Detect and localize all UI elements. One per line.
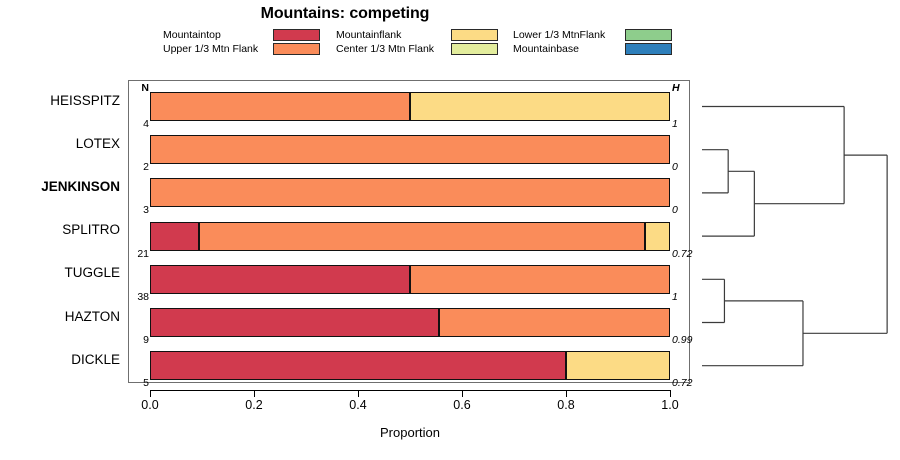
x-tick-0.2 [254, 390, 255, 397]
legend-column-2: Lower 1/3 MtnFlank Mountainbase [513, 28, 673, 58]
legend-item-upper-third-mtn-flank: Upper 1/3 Mtn Flank [163, 42, 325, 56]
n-value-hazton: 9 [143, 334, 149, 346]
bar-row-lotex [150, 135, 670, 164]
chart-title: Mountains: competing [0, 5, 690, 23]
legend-label-upper-third-mtn-flank: Upper 1/3 Mtn Flank [163, 42, 258, 56]
bar-segment-dickle-0 [150, 351, 566, 380]
category-label-lotex: LOTEX [76, 136, 120, 152]
bar-segment-heisspitz-0 [150, 92, 410, 121]
x-tick-label-1.0: 1.0 [650, 398, 690, 412]
bar-segment-heisspitz-1 [410, 92, 670, 121]
bar-segment-jenkinson-0 [150, 178, 670, 207]
bar-segment-splitro-0 [150, 222, 199, 251]
legend-swatch-upper-third-mtn-flank [273, 43, 320, 55]
category-label-heisspitz: HEISSPITZ [50, 93, 120, 109]
legend-item-mountainflank: Mountainflank [336, 28, 501, 42]
n-value-splitro: 21 [137, 248, 149, 260]
bar-segment-hazton-0 [150, 308, 439, 337]
bar-row-hazton [150, 308, 670, 337]
x-tick-1.0 [670, 390, 671, 397]
legend-item-mountaintop: Mountaintop [163, 28, 325, 42]
legend-label-mountaintop: Mountaintop [163, 28, 221, 42]
bar-segment-splitro-1 [199, 222, 645, 251]
category-label-splitro: SPLITRO [62, 222, 120, 238]
bar-segment-dickle-1 [566, 351, 670, 380]
n-value-tuggle: 38 [137, 291, 149, 303]
legend-item-center-third-mtn-flank: Center 1/3 Mtn Flank [336, 42, 501, 56]
legend-label-mountainflank: Mountainflank [336, 28, 401, 42]
legend-column-0: Mountaintop Upper 1/3 Mtn Flank [163, 28, 325, 58]
legend-label-center-third-mtn-flank: Center 1/3 Mtn Flank [336, 42, 434, 56]
bar-segment-tuggle-0 [150, 265, 410, 294]
x-tick-label-0.8: 0.8 [546, 398, 586, 412]
bar-row-jenkinson [150, 178, 670, 207]
h-value-tuggle: 1 [672, 291, 678, 303]
dendrogram [690, 80, 900, 383]
bar-row-splitro [150, 222, 670, 251]
category-label-jenkinson: JENKINSON [41, 179, 120, 195]
x-axis-line [150, 390, 670, 391]
stacked-bars [150, 80, 670, 383]
legend: Mountaintop Upper 1/3 Mtn Flank Mountain… [163, 28, 673, 58]
x-tick-0.6 [462, 390, 463, 397]
bar-row-dickle [150, 351, 670, 380]
legend-label-mountainbase: Mountainbase [513, 42, 579, 56]
n-column-header: N [141, 82, 149, 94]
x-tick-0.8 [566, 390, 567, 397]
legend-column-1: Mountainflank Center 1/3 Mtn Flank [336, 28, 501, 58]
n-value-lotex: 2 [143, 161, 149, 173]
legend-swatch-mountainbase [625, 43, 672, 55]
h-value-lotex: 0 [672, 161, 678, 173]
h-value-jenkinson: 0 [672, 204, 678, 216]
bar-segment-lotex-0 [150, 135, 670, 164]
x-tick-label-0.2: 0.2 [234, 398, 274, 412]
dendrogram-svg [690, 80, 895, 383]
x-tick-label-0.4: 0.4 [338, 398, 378, 412]
bar-row-heisspitz [150, 92, 670, 121]
legend-swatch-mountaintop [273, 29, 320, 41]
n-column: N423213895 [128, 80, 150, 383]
category-label-dickle: DICKLE [71, 352, 120, 368]
h-column-header: H [672, 82, 680, 94]
legend-item-lower-third-mtn-flank: Lower 1/3 MtnFlank [513, 28, 673, 42]
bar-row-tuggle [150, 265, 670, 294]
x-tick-label-0.6: 0.6 [442, 398, 482, 412]
x-tick-label-0.0: 0.0 [130, 398, 170, 412]
bar-segment-hazton-1 [439, 308, 670, 337]
n-value-heisspitz: 4 [143, 118, 149, 130]
category-label-hazton: HAZTON [65, 309, 120, 325]
legend-swatch-mountainflank [451, 29, 498, 41]
category-axis-labels: HEISSPITZLOTEXJENKINSONSPLITROTUGGLEHAZT… [0, 80, 124, 383]
n-value-jenkinson: 3 [143, 204, 149, 216]
x-tick-0.4 [358, 390, 359, 397]
h-value-heisspitz: 1 [672, 118, 678, 130]
h-column: H1000.7210.990.72 [672, 80, 690, 383]
n-value-dickle: 5 [143, 377, 149, 389]
legend-swatch-center-third-mtn-flank [451, 43, 498, 55]
bar-segment-tuggle-1 [410, 265, 670, 294]
legend-label-lower-third-mtn-flank: Lower 1/3 MtnFlank [513, 28, 605, 42]
x-tick-0.0 [150, 390, 151, 397]
legend-item-mountainbase: Mountainbase [513, 42, 673, 56]
legend-swatch-lower-third-mtn-flank [625, 29, 672, 41]
bar-segment-splitro-2 [645, 222, 670, 251]
category-label-tuggle: TUGGLE [64, 265, 120, 281]
x-axis-title: Proportion [150, 425, 670, 440]
